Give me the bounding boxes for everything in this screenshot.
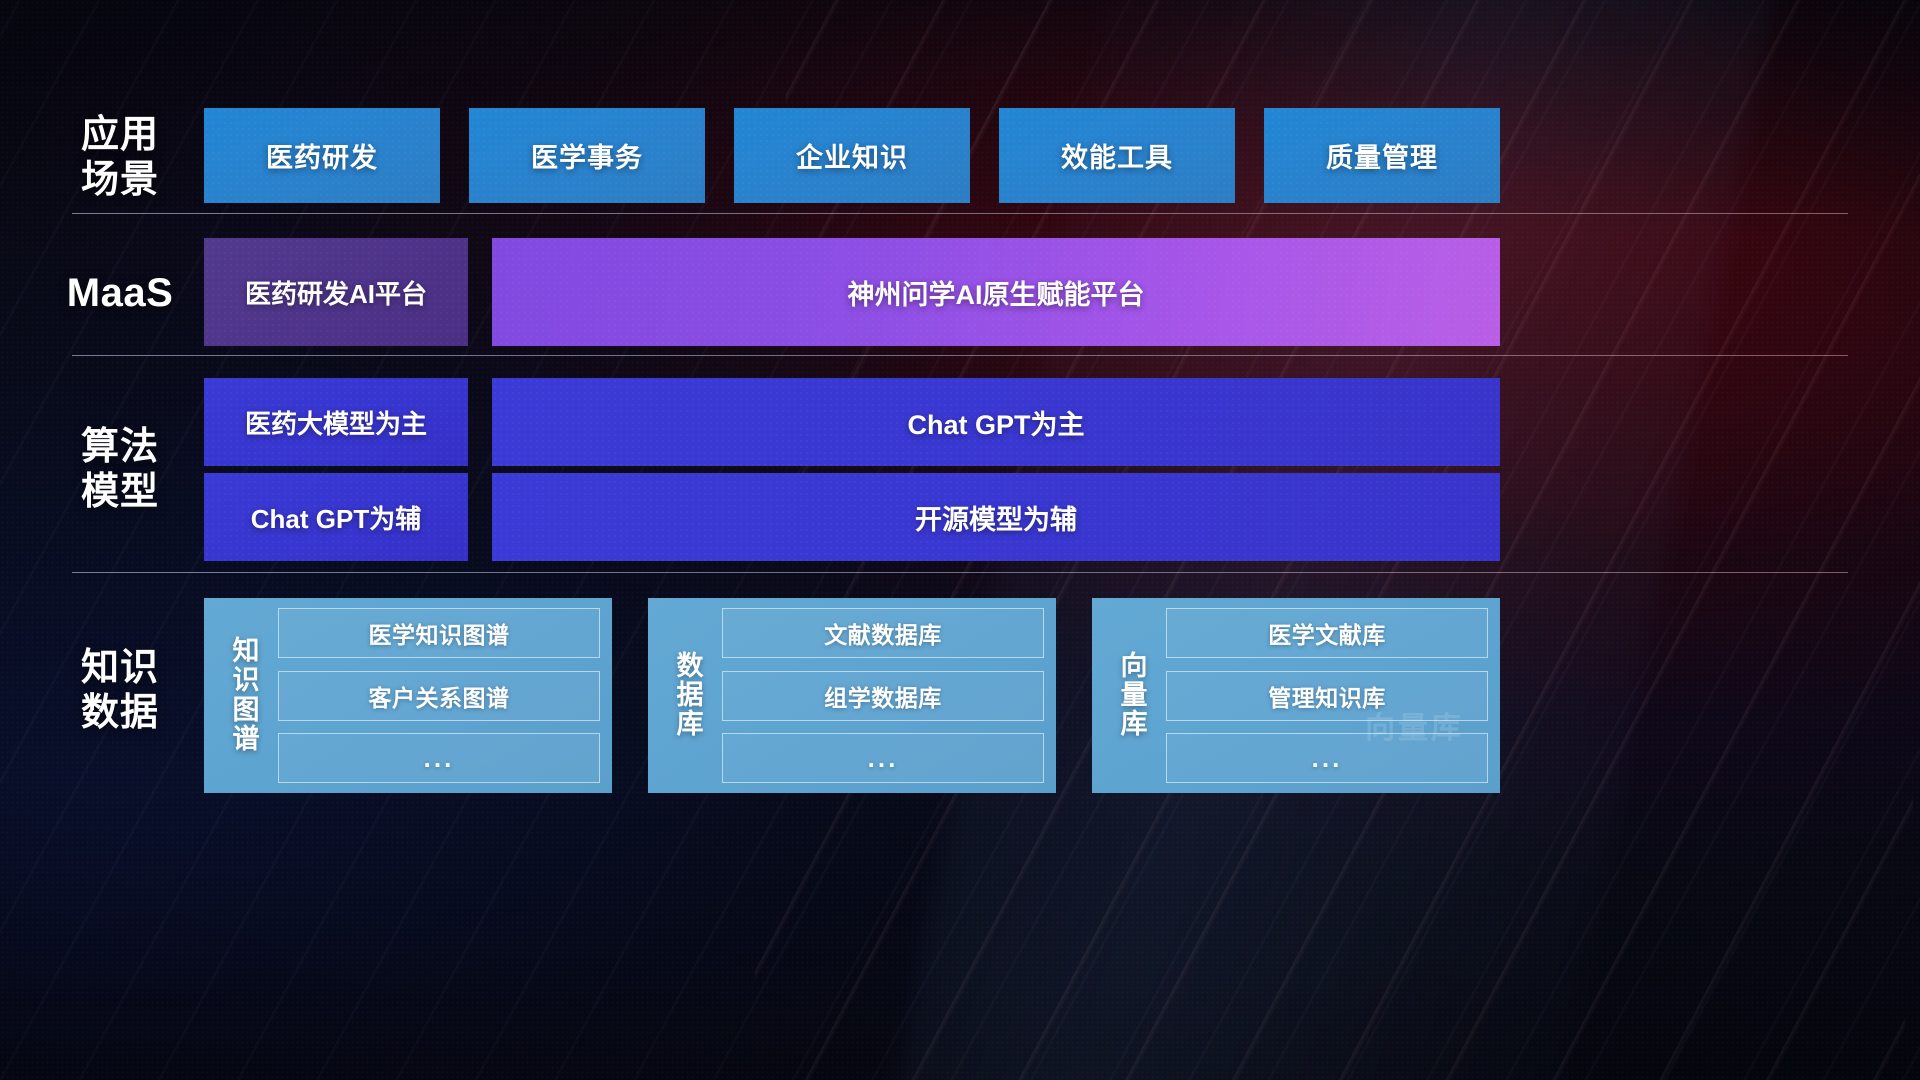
algo-card-label: Chat GPT为主 bbox=[907, 403, 1084, 442]
tier-label-line-2: 数据 bbox=[40, 691, 200, 736]
architecture-diagram: 应用 场景 医药研发 医学事务 企业知识 效能工具 质量管理 MaaS bbox=[0, 0, 1920, 1080]
knowledge-group-items: 医学知识图谱 客户关系图谱 ... bbox=[278, 608, 600, 783]
knowledge-item-more[interactable]: ... bbox=[278, 733, 600, 783]
algo-card-medicine-llm-primary[interactable]: 医药大模型为主 bbox=[204, 378, 468, 466]
side-label-char: 知 bbox=[233, 637, 260, 666]
algo-card-label: 医药大模型为主 bbox=[245, 404, 427, 441]
tier-label-line-1: 应用 bbox=[40, 113, 200, 158]
knowledge-group-items: 文献数据库 组学数据库 ... bbox=[722, 608, 1044, 783]
app-card-medicine-rd[interactable]: 医药研发 bbox=[204, 108, 440, 203]
side-label-char: 图 bbox=[233, 696, 260, 725]
side-label-char: 向 bbox=[1121, 652, 1148, 681]
side-label-char: 识 bbox=[233, 666, 260, 695]
maas-card-label: 神州问学AI原生赋能平台 bbox=[848, 273, 1145, 312]
app-card-quality-management[interactable]: 质量管理 bbox=[1264, 108, 1500, 203]
app-card-enterprise-knowledge[interactable]: 企业知识 bbox=[734, 108, 970, 203]
knowledge-item-more[interactable]: ... bbox=[1166, 733, 1488, 783]
divider-after-tier-2 bbox=[72, 355, 1848, 356]
tier-label-line-1: MaaS bbox=[40, 270, 200, 317]
side-label-char: 库 bbox=[1121, 710, 1148, 739]
app-card-label: 医药研发 bbox=[266, 136, 378, 175]
tier-label-knowledge-data: 知识 数据 bbox=[40, 646, 200, 736]
knowledge-group-database[interactable]: 数 据 库 文献数据库 组学数据库 ... bbox=[648, 598, 1056, 793]
knowledge-item[interactable]: 文献数据库 bbox=[722, 608, 1044, 658]
tier-label-maas: MaaS bbox=[40, 270, 200, 317]
knowledge-item-more[interactable]: ... bbox=[722, 733, 1044, 783]
knowledge-item[interactable]: 客户关系图谱 bbox=[278, 671, 600, 721]
maas-card-medicine-ai-platform[interactable]: 医药研发AI平台 bbox=[204, 238, 468, 346]
app-card-label: 效能工具 bbox=[1061, 136, 1173, 175]
app-card-label: 质量管理 bbox=[1326, 136, 1438, 175]
tier-label-algorithm-model: 算法 模型 bbox=[40, 425, 200, 515]
app-card-label: 医学事务 bbox=[531, 136, 643, 175]
knowledge-item[interactable]: 医学知识图谱 bbox=[278, 608, 600, 658]
knowledge-item[interactable]: 组学数据库 bbox=[722, 671, 1044, 721]
knowledge-item[interactable]: 管理知识库 bbox=[1166, 671, 1488, 721]
knowledge-group-side-label: 知 识 图 谱 bbox=[214, 637, 278, 754]
knowledge-item[interactable]: 医学文献库 bbox=[1166, 608, 1488, 658]
side-label-char: 谱 bbox=[233, 725, 260, 754]
algo-card-chatgpt-secondary[interactable]: Chat GPT为辅 bbox=[204, 473, 468, 561]
tier-label-line-2: 模型 bbox=[40, 470, 200, 515]
tier-label-application-scenarios: 应用 场景 bbox=[40, 113, 200, 203]
tier-label-line-1: 算法 bbox=[40, 425, 200, 470]
app-card-medical-affairs[interactable]: 医学事务 bbox=[469, 108, 705, 203]
tier-label-line-1: 知识 bbox=[40, 646, 200, 691]
divider-after-tier-3 bbox=[72, 572, 1848, 573]
algo-card-opensource-secondary[interactable]: 开源模型为辅 bbox=[492, 473, 1500, 561]
maas-card-label: 医药研发AI平台 bbox=[245, 274, 427, 311]
side-label-char: 库 bbox=[677, 710, 704, 739]
knowledge-group-side-label: 数 据 库 bbox=[658, 652, 722, 739]
knowledge-group-side-label: 向 量 库 bbox=[1102, 652, 1166, 739]
algo-card-label: 开源模型为辅 bbox=[915, 498, 1077, 537]
algo-card-label: Chat GPT为辅 bbox=[251, 499, 421, 536]
side-label-char: 数 bbox=[677, 652, 704, 681]
maas-card-shenzhou-wenxue-platform[interactable]: 神州问学AI原生赋能平台 bbox=[492, 238, 1500, 346]
divider-after-tier-1 bbox=[72, 213, 1848, 214]
app-card-label: 企业知识 bbox=[796, 136, 908, 175]
side-label-char: 据 bbox=[677, 681, 704, 710]
algo-card-chatgpt-primary[interactable]: Chat GPT为主 bbox=[492, 378, 1500, 466]
knowledge-group-knowledge-graph[interactable]: 知 识 图 谱 医学知识图谱 客户关系图谱 ... bbox=[204, 598, 612, 793]
knowledge-group-vector-store[interactable]: 向量库 向 量 库 医学文献库 管理知识库 ... bbox=[1092, 598, 1500, 793]
tier-label-line-2: 场景 bbox=[40, 158, 200, 203]
side-label-char: 量 bbox=[1121, 681, 1148, 710]
app-card-efficiency-tools[interactable]: 效能工具 bbox=[999, 108, 1235, 203]
diagram-canvas: 应用 场景 医药研发 医学事务 企业知识 效能工具 质量管理 MaaS bbox=[0, 0, 1920, 1080]
knowledge-group-items: 医学文献库 管理知识库 ... bbox=[1166, 608, 1488, 783]
